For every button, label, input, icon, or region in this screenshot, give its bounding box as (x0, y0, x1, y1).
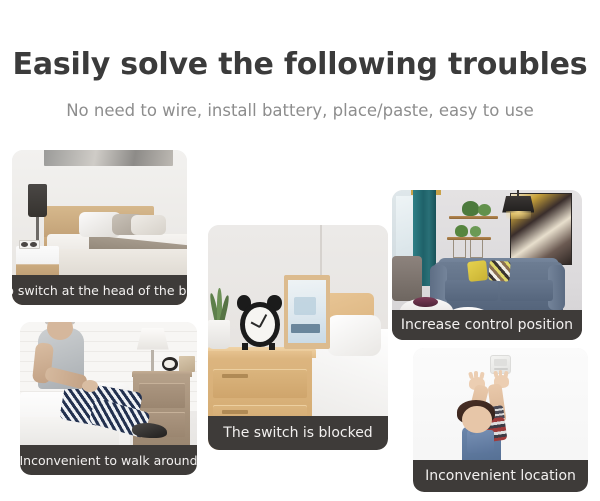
card-caption: The switch is blocked (208, 416, 388, 450)
page-subtitle: No need to wire, install battery, place/… (0, 103, 600, 120)
feature-card-inconvenient-to-walk-around[interactable]: Inconvenient to walk around (20, 322, 197, 475)
card-caption: No switch at the head of the bed (12, 275, 187, 305)
card-caption: Increase control position (392, 310, 582, 340)
page-title: Easily solve the following troubles (0, 50, 600, 80)
card-caption: Inconvenient location (413, 460, 588, 492)
feature-card-increase-control-position[interactable]: Increase control position (392, 190, 582, 340)
header: Easily solve the following troubles No n… (0, 0, 600, 120)
feature-card-inconvenient-location[interactable]: Inconvenient location (413, 348, 588, 492)
promo-banner: Easily solve the following troubles No n… (0, 0, 600, 501)
card-caption: Inconvenient to walk around (20, 445, 197, 475)
feature-card-no-switch-head-of-bed[interactable]: No switch at the head of the bed (12, 150, 187, 305)
feature-card-switch-blocked[interactable]: The switch is blocked (208, 225, 388, 450)
